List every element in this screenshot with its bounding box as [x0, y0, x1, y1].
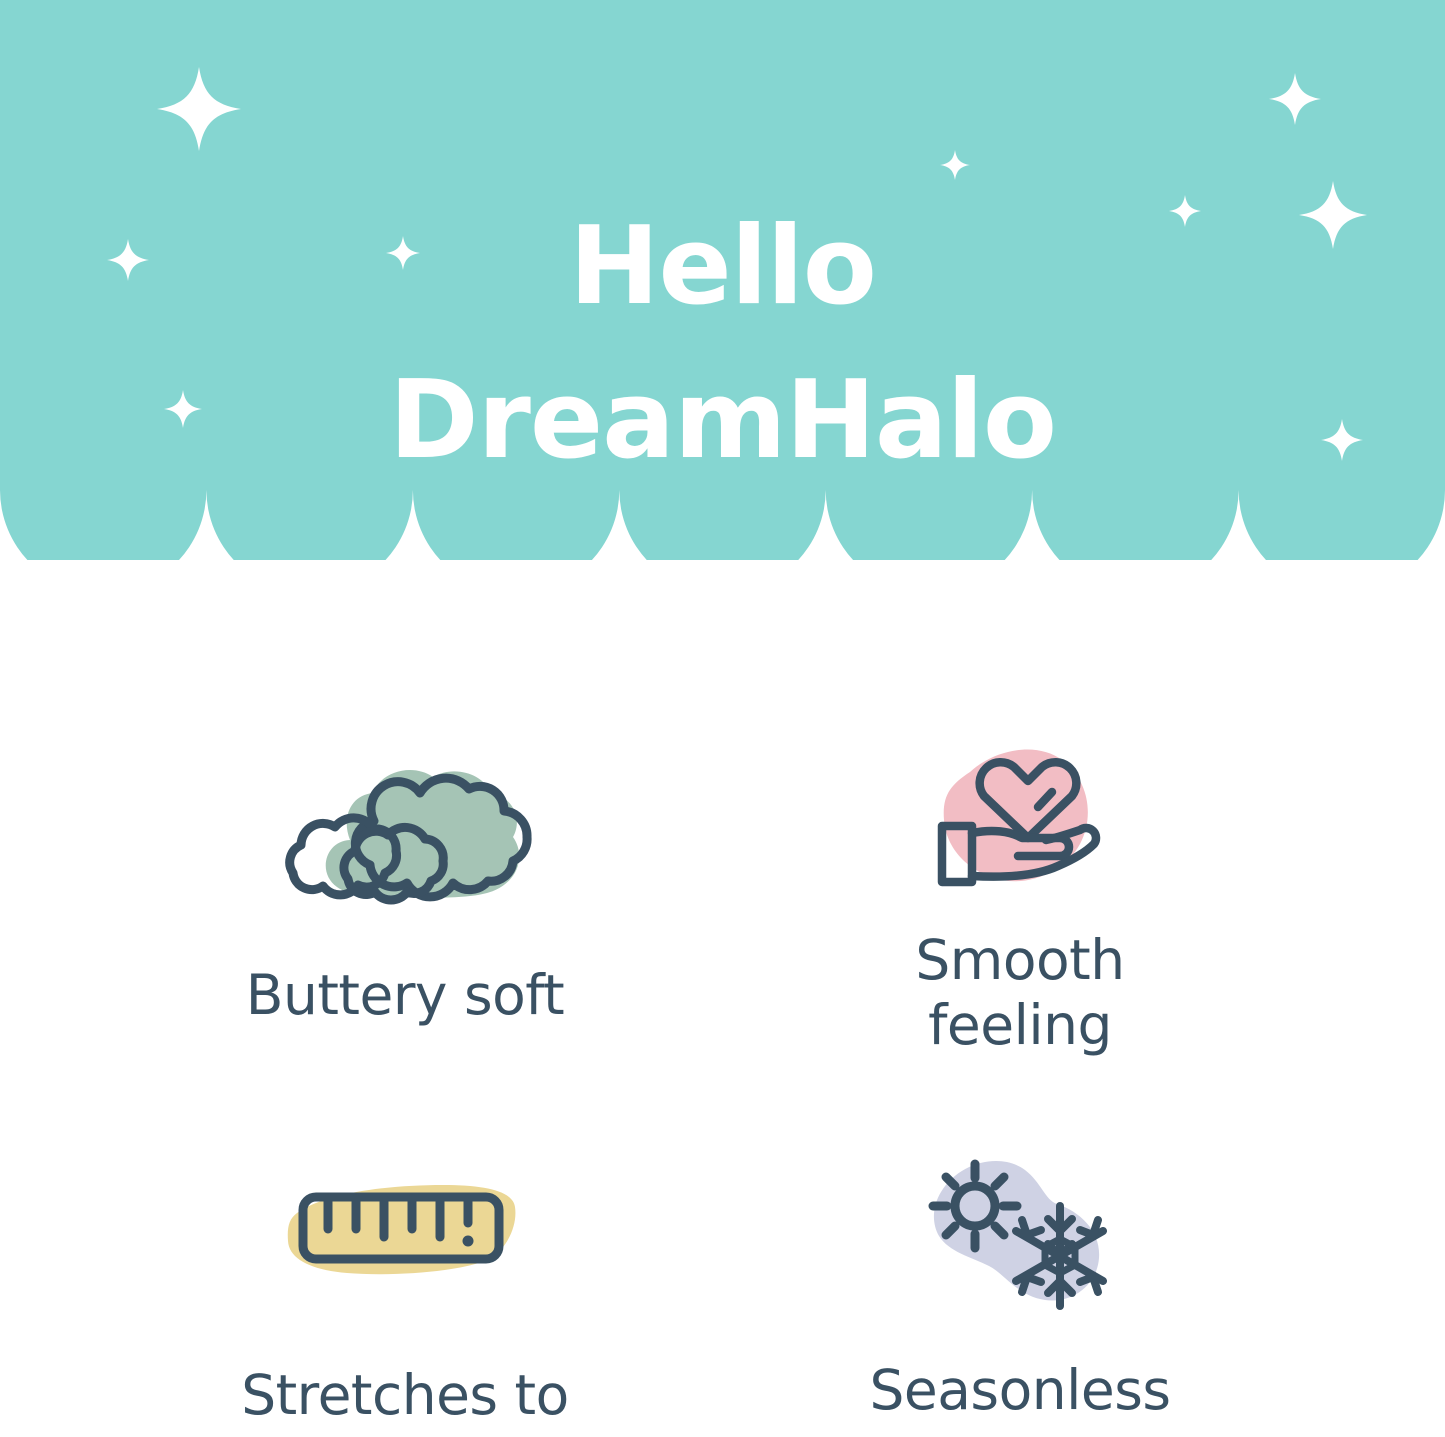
feature-grid: Buttery soft	[0, 700, 1445, 1437]
hero-banner: Hello DreamHalo	[0, 0, 1445, 560]
feature-item-smooth-feeling: Smooth feeling	[770, 730, 1270, 1058]
feature-item-stretches-to-fit-longer: Stretches to fit longer	[155, 1155, 655, 1437]
feature-label-line-2: fit longer	[155, 1428, 655, 1437]
feature-item-seasonless: Seasonless	[770, 1140, 1270, 1423]
hero-background	[0, 0, 1445, 560]
feature-label-seasonless: Seasonless	[770, 1358, 1270, 1423]
sun-snowflake-icon	[905, 1140, 1135, 1320]
feature-item-buttery-soft: Buttery soft	[155, 745, 655, 1028]
ruler-icon	[275, 1155, 535, 1335]
feature-label-stretches-to-fit-longer: Stretches to fit longer	[155, 1363, 655, 1437]
scalloped-edge	[0, 0, 1445, 560]
feature-label-buttery-soft: Buttery soft	[155, 963, 655, 1028]
feature-label-line-1: Seasonless	[770, 1358, 1270, 1423]
feature-label-line-1: Smooth	[770, 928, 1270, 993]
feature-label-line-1: Stretches to	[155, 1363, 655, 1428]
clouds-icon	[255, 745, 555, 925]
product-feature-graphic: Hello DreamHalo Buttery soft	[0, 0, 1445, 1437]
feature-label-smooth-feeling: Smooth feeling	[770, 928, 1270, 1058]
feature-label-line-1: Buttery soft	[155, 963, 655, 1028]
feature-label-line-2: feeling	[770, 993, 1270, 1058]
heart-in-hand-icon	[910, 730, 1130, 910]
